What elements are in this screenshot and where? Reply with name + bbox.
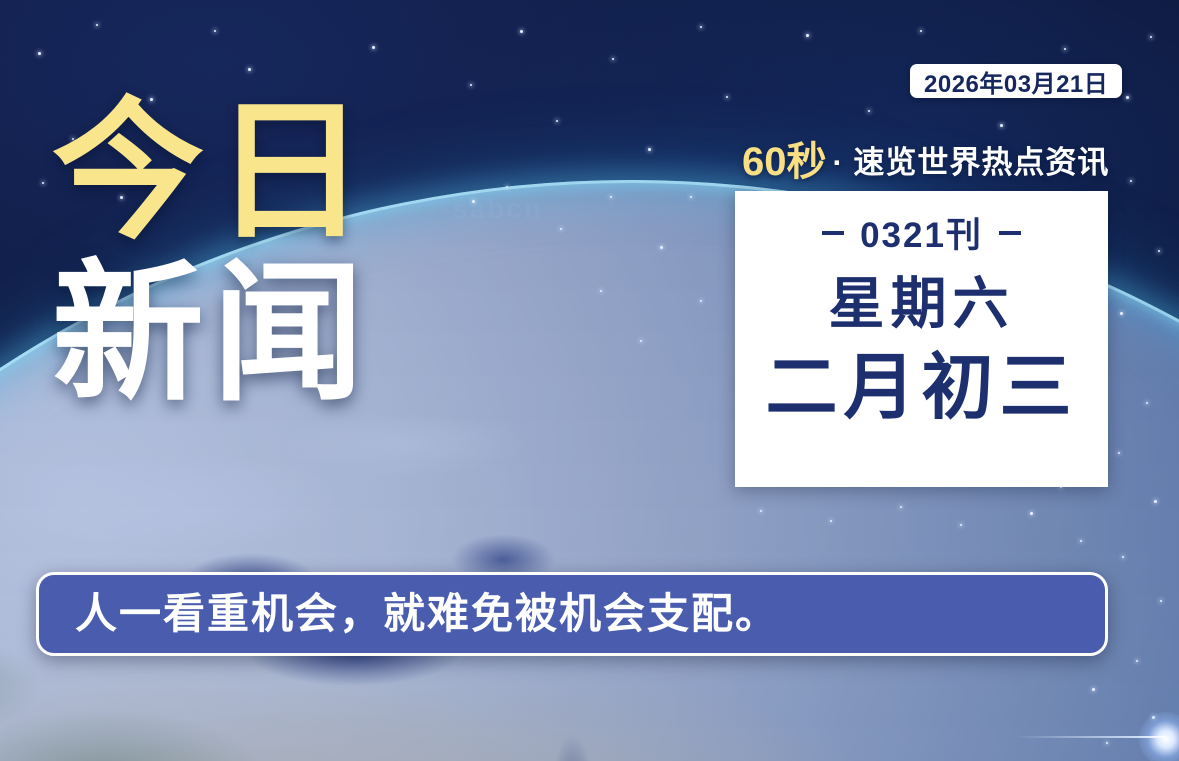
weekday-label: 星期六	[829, 274, 1015, 334]
issue-row: 0321刊	[822, 207, 1021, 258]
lunar-date-label: 二月初三	[765, 350, 1077, 426]
date-badge: 2026年03月21日	[910, 64, 1122, 98]
issue-dash-left-icon	[822, 231, 844, 235]
poster-title: 今日 新闻	[52, 96, 376, 410]
quote-banner: 人一看重机会，就难免被机会支配。	[36, 572, 1108, 656]
title-line-today: 今日	[52, 96, 376, 248]
news-poster: sabcn 今日 新闻 2026年03月21日 60秒 · 速览世界热点资讯 0…	[0, 0, 1179, 761]
watermark-text: sabcn	[452, 193, 543, 225]
issue-label: 0321刊	[860, 207, 983, 258]
tagline-highlight: 60秒	[742, 142, 827, 182]
tagline: 60秒 · 速览世界热点资讯	[742, 142, 1109, 182]
date-badge-label: 2026年03月21日	[924, 64, 1108, 99]
quote-text: 人一看重机会，就难免被机会支配。	[75, 591, 779, 637]
tagline-rest: · 速览世界热点资讯	[833, 144, 1110, 182]
info-card: 0321刊 星期六 二月初三	[735, 191, 1108, 487]
issue-dash-right-icon	[999, 231, 1021, 235]
title-line-news: 新闻	[52, 258, 376, 410]
